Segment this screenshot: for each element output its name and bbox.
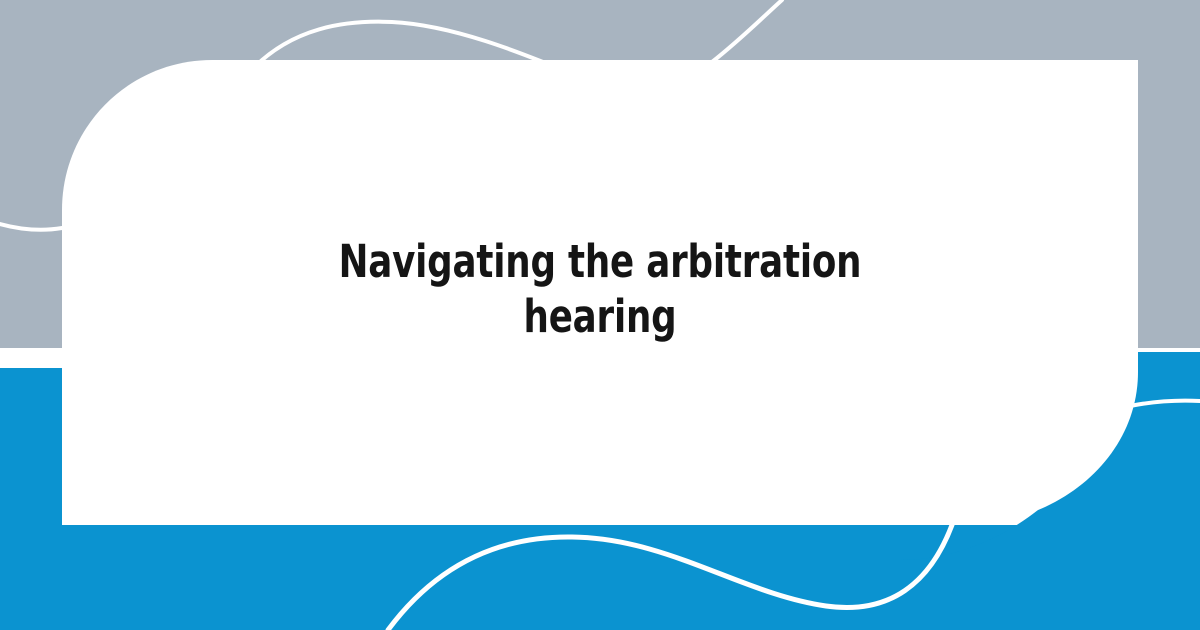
background-artwork [0, 0, 1200, 630]
gray-background-band-right [1138, 0, 1200, 348]
white-content-card [62, 60, 1138, 525]
social-card-canvas: Navigating the arbitration hearing [0, 0, 1200, 630]
